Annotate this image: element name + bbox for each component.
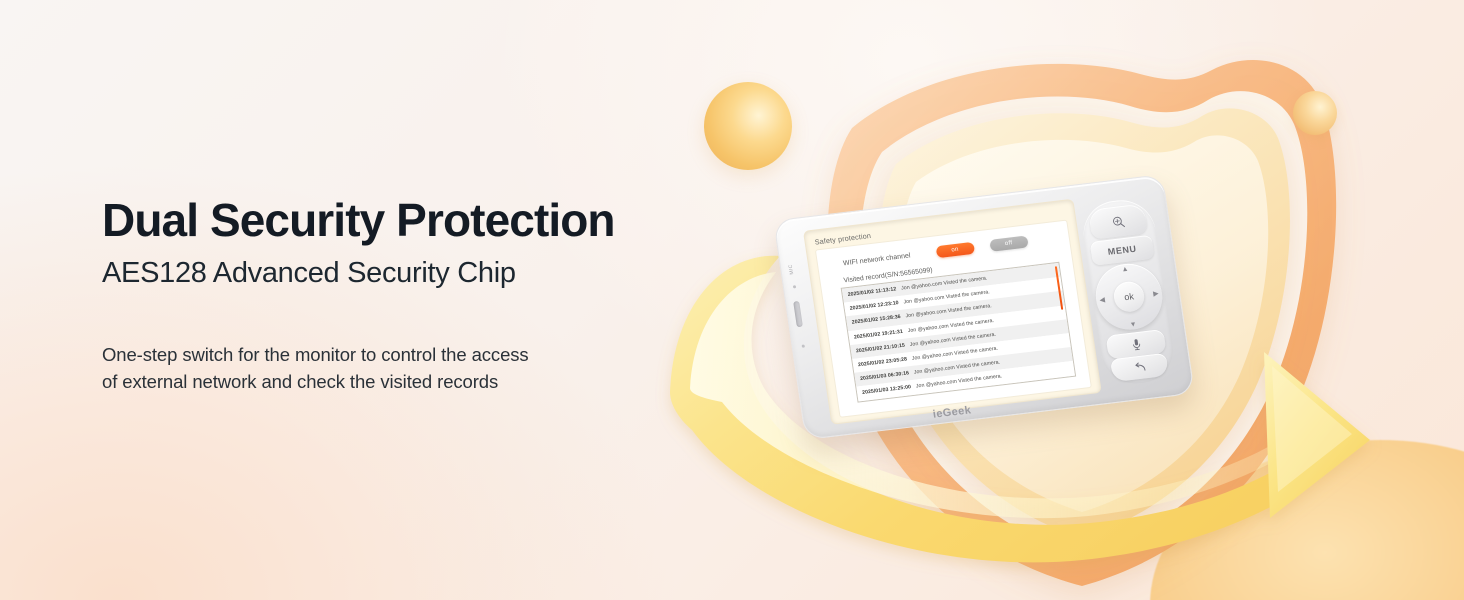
speaker-hole-icon [802,345,805,348]
back-arrow-icon [1132,361,1147,373]
menu-button[interactable]: MENU [1090,235,1155,266]
promo-banner: MIC Safety protection WIFI network chann… [0,0,1464,600]
body-copy: One-step switch for the monitor to contr… [102,342,622,396]
screen-content-panel: WIFI network channel on off Visited reco… [816,221,1091,417]
subheadline: AES128 Advanced Security Chip [102,256,622,291]
headline: Dual Security Protection [102,196,622,246]
wifi-channel-label: WIFI network channel [843,252,911,267]
wifi-toggle-off-button[interactable]: off [989,235,1029,251]
zoom-in-icon [1111,214,1126,228]
body-copy-line-1: One-step switch for the monitor to contr… [102,342,622,369]
mic-label: MIC [788,264,795,275]
record-timestamp: 2025/01/03 12:25:00 [862,385,912,397]
wifi-toggle-on-button[interactable]: on [935,242,975,258]
copy-block: Dual Security Protection AES128 Advanced… [102,196,622,396]
gold-sphere-large [704,82,792,170]
visited-record-list[interactable]: 2025/01/02 11:13:12 Jon @yahoo.com Viste… [841,262,1076,403]
dpad-ok-button[interactable]: ok [1112,280,1146,313]
mic-hole-icon [793,285,796,288]
side-port [793,301,803,327]
device-screen: Safety protection WIFI network channel o… [804,200,1101,424]
gold-sphere-small [1293,91,1337,135]
baby-monitor-device: MIC Safety protection WIFI network chann… [773,174,1195,440]
device-body: MIC Safety protection WIFI network chann… [773,174,1195,440]
zoom-in-button[interactable] [1088,203,1148,239]
body-copy-line-2: of external network and check the visite… [102,369,622,396]
microphone-icon [1130,337,1143,351]
dpad-control[interactable]: ▲ ▼ ◀ ▶ ok [1091,260,1166,333]
